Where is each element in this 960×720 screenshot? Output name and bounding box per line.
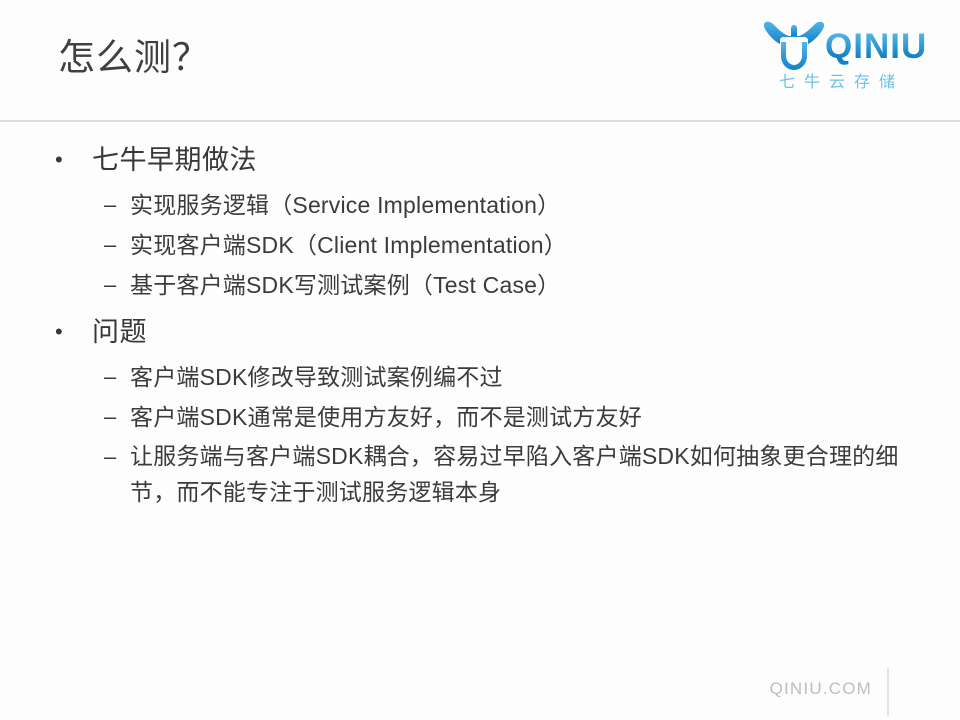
list-item-text: 客户端SDK通常是使用方友好，而不是测试方友好 xyxy=(130,404,642,430)
bullet-heading: • 问题 xyxy=(0,312,960,352)
bullet-heading: • 七牛早期做法 xyxy=(0,140,960,180)
list-item: – 客户端SDK修改导致测试案例编不过 xyxy=(0,358,960,396)
list-item: – 基于客户端SDK写测试案例（Test Case） xyxy=(0,266,960,304)
footer-brand-text: QINIU.COM xyxy=(770,678,872,700)
bullet-marker-dot: • xyxy=(55,312,73,352)
bullet-marker-dash: – xyxy=(104,266,124,304)
bullet-heading-text: 问题 xyxy=(92,317,147,347)
bullet-group-approach: • 七牛早期做法 – 实现服务逻辑（Service Implementation… xyxy=(0,140,960,304)
list-item-text: 让服务端与客户端SDK耦合，容易过早陷入客户端SDK如何抽象更合理的细节，而不能… xyxy=(130,443,899,505)
bull-head-icon xyxy=(761,20,827,74)
list-item: – 实现服务逻辑（Service Implementation） xyxy=(0,186,960,224)
list-item-text: 基于客户端SDK写测试案例（Test Case） xyxy=(130,272,560,298)
list-item: – 客户端SDK通常是使用方友好，而不是测试方友好 xyxy=(0,398,960,436)
logo-subtitle: 七牛云存储 xyxy=(779,73,904,93)
list-item: – 实现客户端SDK（Client Implementation） xyxy=(0,226,960,264)
list-item-text: 客户端SDK修改导致测试案例编不过 xyxy=(130,364,503,390)
slide-header: 怎么测？ QINIU 七牛云存储 xyxy=(0,0,960,122)
bullet-marker-dash: – xyxy=(104,358,124,396)
page-title: 怎么测？ xyxy=(58,34,210,82)
slide-footer: QINIU.COM xyxy=(0,660,960,720)
slide-canvas: 怎么测？ QINIU 七牛云存储 xyxy=(0,0,960,720)
footer-divider xyxy=(887,668,889,716)
header-divider xyxy=(0,120,960,122)
bullet-group-problems: • 问题 – 客户端SDK修改导致测试案例编不过 – 客户端SDK通常是使用方友… xyxy=(0,312,960,510)
list-item-text: 实现服务逻辑（Service Implementation） xyxy=(130,192,560,218)
bullet-marker-dash: – xyxy=(104,438,124,476)
bullet-marker-dot: • xyxy=(55,140,73,180)
bullet-marker-dash: – xyxy=(104,226,124,264)
logo-wordmark: QINIU xyxy=(825,28,927,66)
slide-body: • 七牛早期做法 – 实现服务逻辑（Service Implementation… xyxy=(0,140,960,512)
bullet-marker-dash: – xyxy=(104,398,124,436)
bullet-marker-dash: – xyxy=(104,186,124,224)
list-item-text: 实现客户端SDK（Client Implementation） xyxy=(130,232,567,258)
list-item: – 让服务端与客户端SDK耦合，容易过早陷入客户端SDK如何抽象更合理的细节，而… xyxy=(0,438,960,510)
qiniu-logo: QINIU 七牛云存储 xyxy=(757,18,947,106)
bullet-heading-text: 七牛早期做法 xyxy=(92,145,257,175)
